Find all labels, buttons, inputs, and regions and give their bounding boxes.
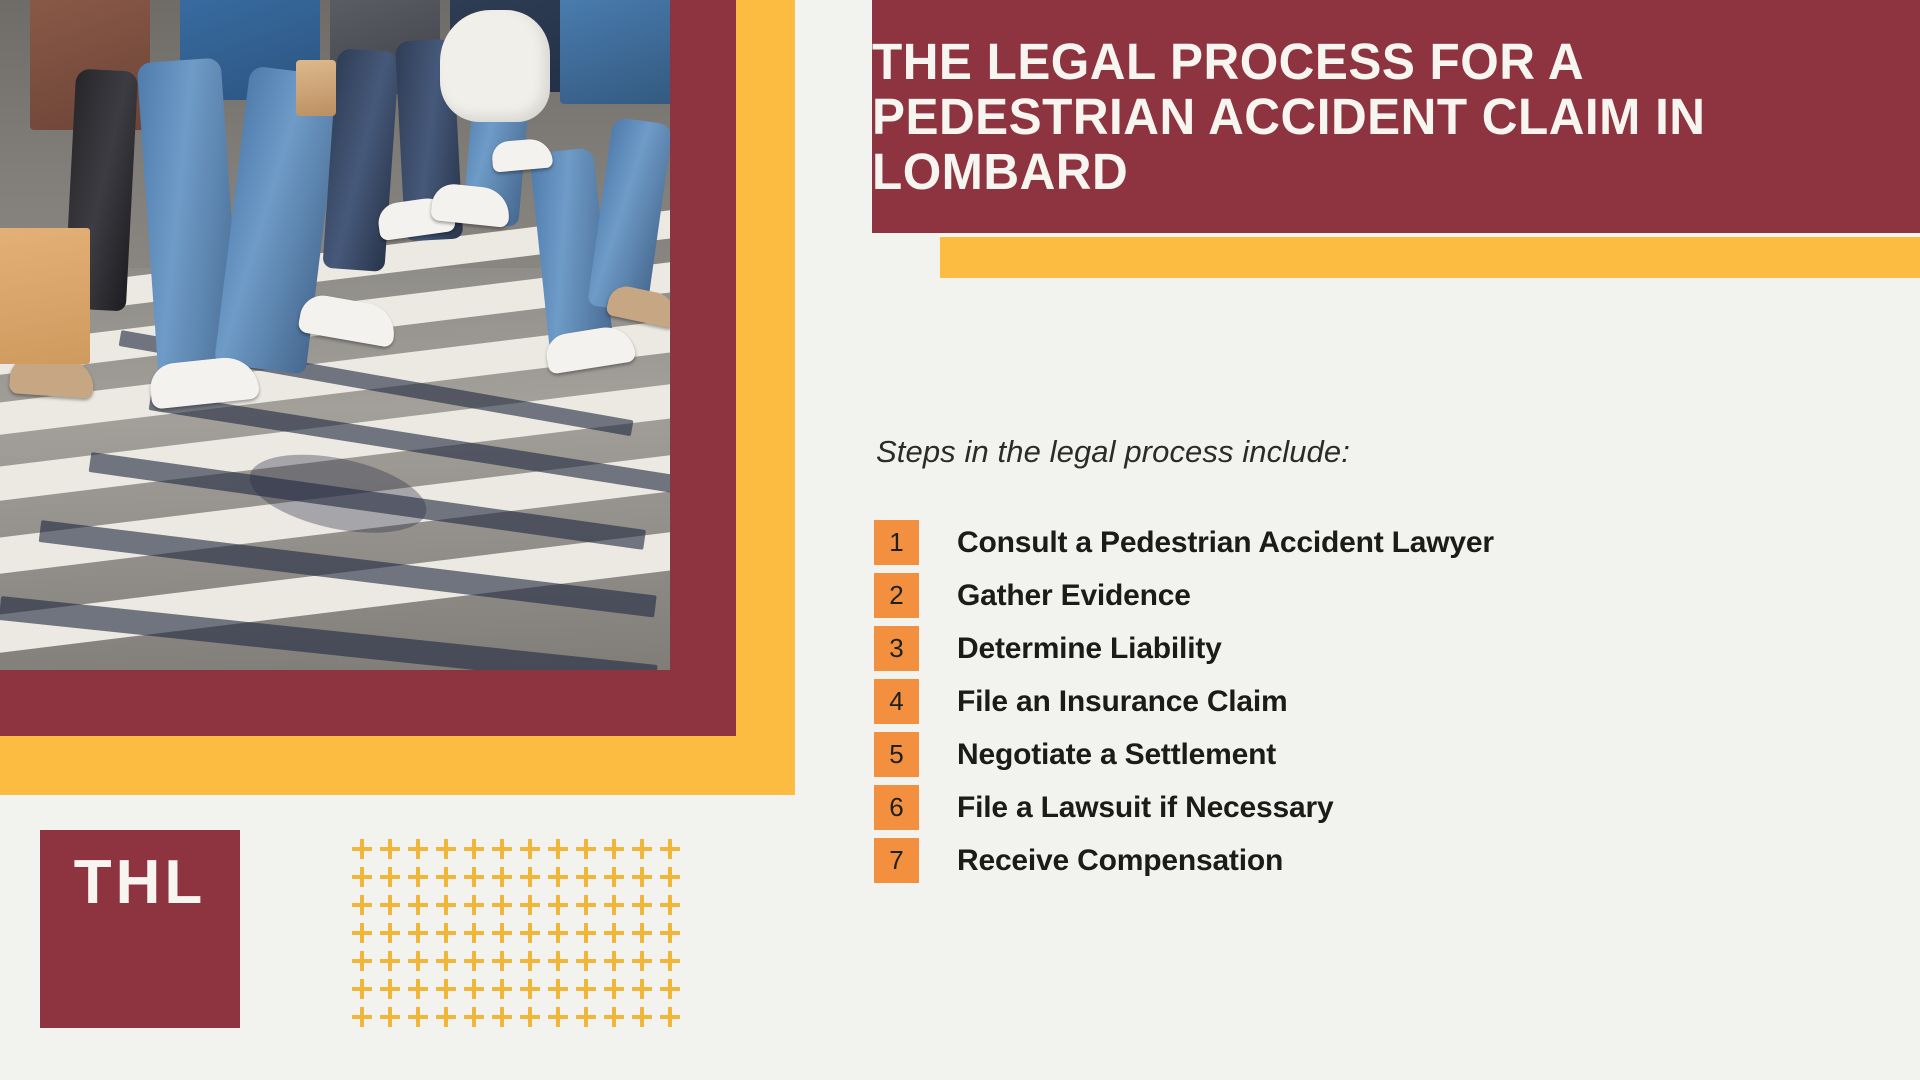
plus-icon: [464, 891, 484, 919]
plus-pattern-row: [352, 891, 662, 919]
photo-handbag: [296, 60, 336, 116]
plus-pattern-row: [352, 947, 662, 975]
plus-icon: [492, 1003, 512, 1031]
plus-icon: [408, 975, 428, 1003]
plus-icon: [408, 891, 428, 919]
plus-icon: [632, 947, 652, 975]
plus-icon: [660, 975, 680, 1003]
plus-icon: [492, 835, 512, 863]
plus-icon: [464, 835, 484, 863]
plus-icon: [492, 975, 512, 1003]
plus-icon: [660, 863, 680, 891]
plus-pattern-row: [352, 863, 662, 891]
plus-icon: [352, 835, 372, 863]
step-item: 4 File an Insurance Claim: [874, 675, 1894, 728]
plus-pattern-row: [352, 835, 662, 863]
plus-icon: [604, 975, 624, 1003]
plus-icon: [408, 1003, 428, 1031]
title-accent-stripe: [736, 0, 795, 300]
crosswalk-photo-frame: [0, 0, 670, 670]
step-number-badge: 4: [874, 679, 919, 724]
step-label: Determine Liability: [957, 632, 1222, 666]
step-item: 5 Negotiate a Settlement: [874, 728, 1894, 781]
plus-icon: [408, 835, 428, 863]
plus-icon: [520, 975, 540, 1003]
steps-intro-text: Steps in the legal process include:: [876, 434, 1776, 470]
plus-icon: [408, 947, 428, 975]
plus-icon: [464, 947, 484, 975]
plus-icon: [436, 835, 456, 863]
plus-icon: [660, 919, 680, 947]
brand-logo: THL: [40, 830, 240, 1028]
plus-icon: [632, 835, 652, 863]
plus-icon: [380, 891, 400, 919]
plus-icon: [436, 1003, 456, 1031]
plus-icon: [352, 1003, 372, 1031]
plus-icon: [548, 919, 568, 947]
step-number-badge: 3: [874, 626, 919, 671]
plus-icon: [548, 863, 568, 891]
step-item: 6 File a Lawsuit if Necessary: [874, 781, 1894, 834]
plus-icon: [548, 947, 568, 975]
plus-icon: [576, 835, 596, 863]
plus-icon: [352, 863, 372, 891]
plus-icon: [520, 863, 540, 891]
plus-icon: [660, 891, 680, 919]
plus-icon: [604, 835, 624, 863]
plus-icon: [576, 947, 596, 975]
step-number-badge: 2: [874, 573, 919, 618]
plus-icon: [632, 891, 652, 919]
plus-icon: [604, 919, 624, 947]
plus-icon: [632, 1003, 652, 1031]
photo-person-torso: [560, 0, 670, 104]
plus-icon: [380, 835, 400, 863]
plus-icon: [660, 835, 680, 863]
plus-icon: [380, 919, 400, 947]
step-number-badge: 6: [874, 785, 919, 830]
plus-icon: [520, 835, 540, 863]
plus-icon: [492, 919, 512, 947]
step-label: File an Insurance Claim: [957, 685, 1288, 719]
step-label: Consult a Pedestrian Accident Lawyer: [957, 526, 1494, 560]
step-item: 1 Consult a Pedestrian Accident Lawyer: [874, 516, 1894, 569]
plus-icon: [660, 1003, 680, 1031]
plus-icon: [520, 1003, 540, 1031]
plus-icon: [604, 863, 624, 891]
plus-icon: [408, 863, 428, 891]
title-block: THE LEGAL PROCESS FOR A PEDESTRIAN ACCID…: [872, 0, 1920, 233]
plus-icon: [436, 975, 456, 1003]
plus-icon: [352, 975, 372, 1003]
step-item: 3 Determine Liability: [874, 622, 1894, 675]
plus-icon: [352, 947, 372, 975]
plus-icon: [492, 891, 512, 919]
plus-icon: [464, 1003, 484, 1031]
plus-icon: [380, 863, 400, 891]
steps-list: 1 Consult a Pedestrian Accident Lawyer 2…: [874, 516, 1894, 887]
brand-logo-text: THL: [74, 852, 207, 914]
step-number-badge: 5: [874, 732, 919, 777]
crosswalk-photo: [0, 0, 670, 670]
step-item: 7 Receive Compensation: [874, 834, 1894, 887]
plus-icon: [548, 891, 568, 919]
plus-icon: [604, 1003, 624, 1031]
plus-icon: [492, 863, 512, 891]
plus-icon: [548, 835, 568, 863]
step-label: Receive Compensation: [957, 844, 1283, 878]
plus-icon: [576, 975, 596, 1003]
page-title: THE LEGAL PROCESS FOR A PEDESTRIAN ACCID…: [872, 34, 1850, 199]
plus-icon: [576, 919, 596, 947]
plus-icon: [380, 1003, 400, 1031]
plus-icon: [660, 947, 680, 975]
step-number-badge: 1: [874, 520, 919, 565]
plus-icon: [436, 919, 456, 947]
photo-plastic-bag: [440, 10, 550, 122]
plus-icon: [604, 947, 624, 975]
step-label: Gather Evidence: [957, 579, 1191, 613]
left-composition: [0, 0, 800, 800]
plus-icon: [436, 891, 456, 919]
step-label: Negotiate a Settlement: [957, 738, 1276, 772]
plus-icon: [604, 891, 624, 919]
photo-shopping-bag: [0, 228, 90, 364]
plus-icon: [632, 975, 652, 1003]
plus-icon: [632, 919, 652, 947]
plus-icon: [520, 891, 540, 919]
plus-icon: [436, 947, 456, 975]
plus-icon: [352, 919, 372, 947]
plus-icon: [436, 863, 456, 891]
plus-icon: [548, 1003, 568, 1031]
plus-pattern-row: [352, 919, 662, 947]
plus-icon: [632, 863, 652, 891]
step-item: 2 Gather Evidence: [874, 569, 1894, 622]
plus-pattern-decoration: [352, 835, 662, 1035]
plus-pattern-row: [352, 975, 662, 1003]
plus-icon: [548, 975, 568, 1003]
plus-icon: [520, 947, 540, 975]
plus-icon: [576, 1003, 596, 1031]
step-label: File a Lawsuit if Necessary: [957, 791, 1333, 825]
title-underbar: [940, 237, 1920, 278]
step-number-badge: 7: [874, 838, 919, 883]
plus-icon: [380, 947, 400, 975]
plus-icon: [576, 891, 596, 919]
plus-icon: [520, 919, 540, 947]
plus-icon: [464, 975, 484, 1003]
plus-icon: [408, 919, 428, 947]
plus-icon: [464, 919, 484, 947]
plus-icon: [464, 863, 484, 891]
plus-icon: [492, 947, 512, 975]
plus-pattern-row: [352, 1003, 662, 1031]
plus-icon: [380, 975, 400, 1003]
plus-icon: [352, 891, 372, 919]
plus-icon: [576, 863, 596, 891]
